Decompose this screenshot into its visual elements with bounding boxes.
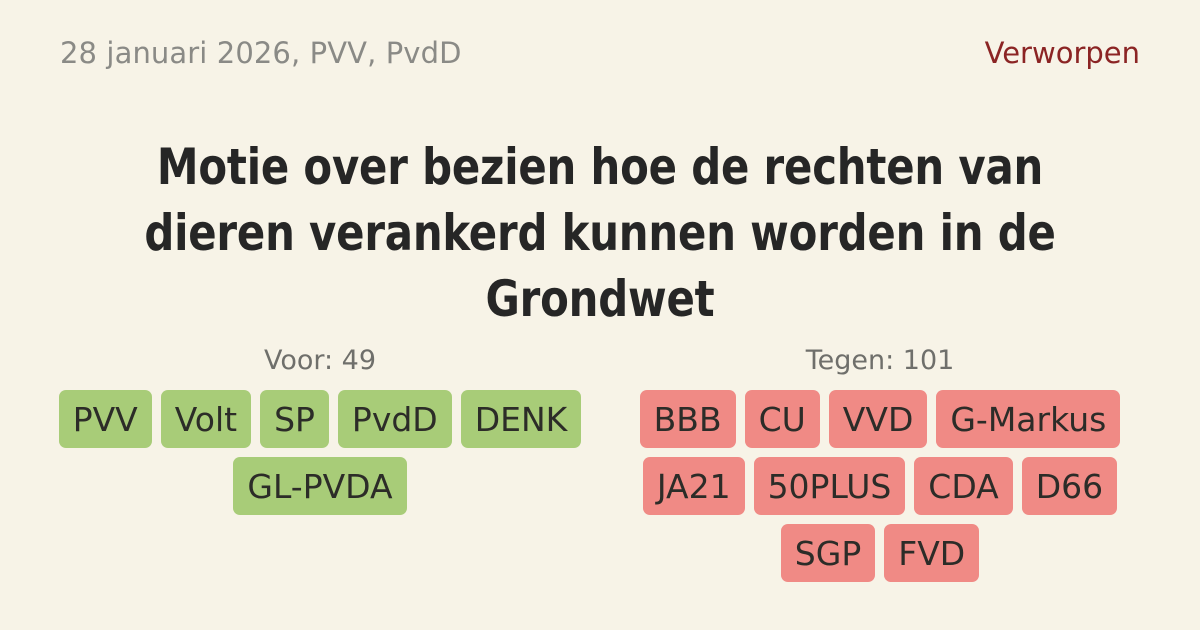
- party-chip[interactable]: BBB: [640, 390, 736, 448]
- vote-meta: 28 januari 2026, PVV, PvdD: [60, 36, 462, 70]
- vote-breakdown: Voor: 49 PVVVoltSPPvdDDENKGL-PVDA Tegen:…: [0, 345, 1200, 582]
- card-header: 28 januari 2026, PVV, PvdD Verworpen: [60, 30, 1140, 76]
- voor-party-chips: PVVVoltSPPvdDDENKGL-PVDA: [48, 390, 593, 515]
- vote-result-card: 28 januari 2026, PVV, PvdD Verworpen Mot…: [0, 0, 1200, 630]
- party-chip[interactable]: PVV: [59, 390, 152, 448]
- tegen-heading: Tegen: 101: [806, 345, 955, 376]
- party-chip[interactable]: D66: [1022, 457, 1117, 515]
- party-chip[interactable]: DENK: [461, 390, 582, 448]
- page-title: Motie over bezien hoe de rechten van die…: [107, 134, 1093, 332]
- party-chip[interactable]: GL-PVDA: [233, 457, 406, 515]
- party-chip[interactable]: CU: [745, 390, 820, 448]
- party-chip[interactable]: CDA: [914, 457, 1012, 515]
- tegen-party-chips: BBBCUVVDG-MarkusJA2150PLUSCDAD66SGPFVD: [608, 390, 1153, 582]
- party-chip[interactable]: 50PLUS: [754, 457, 906, 515]
- party-chip[interactable]: JA21: [643, 457, 745, 515]
- party-chip[interactable]: FVD: [884, 524, 979, 582]
- party-chip[interactable]: Volt: [161, 390, 251, 448]
- party-chip[interactable]: G-Markus: [936, 390, 1120, 448]
- party-chip[interactable]: VVD: [829, 390, 928, 448]
- voor-heading: Voor: 49: [264, 345, 376, 376]
- status-badge: Verworpen: [985, 36, 1140, 70]
- party-chip[interactable]: PvdD: [338, 390, 452, 448]
- vote-column-tegen: Tegen: 101 BBBCUVVDG-MarkusJA2150PLUSCDA…: [600, 345, 1160, 582]
- vote-column-voor: Voor: 49 PVVVoltSPPvdDDENKGL-PVDA: [40, 345, 600, 515]
- party-chip[interactable]: SGP: [781, 524, 875, 582]
- party-chip[interactable]: SP: [260, 390, 329, 448]
